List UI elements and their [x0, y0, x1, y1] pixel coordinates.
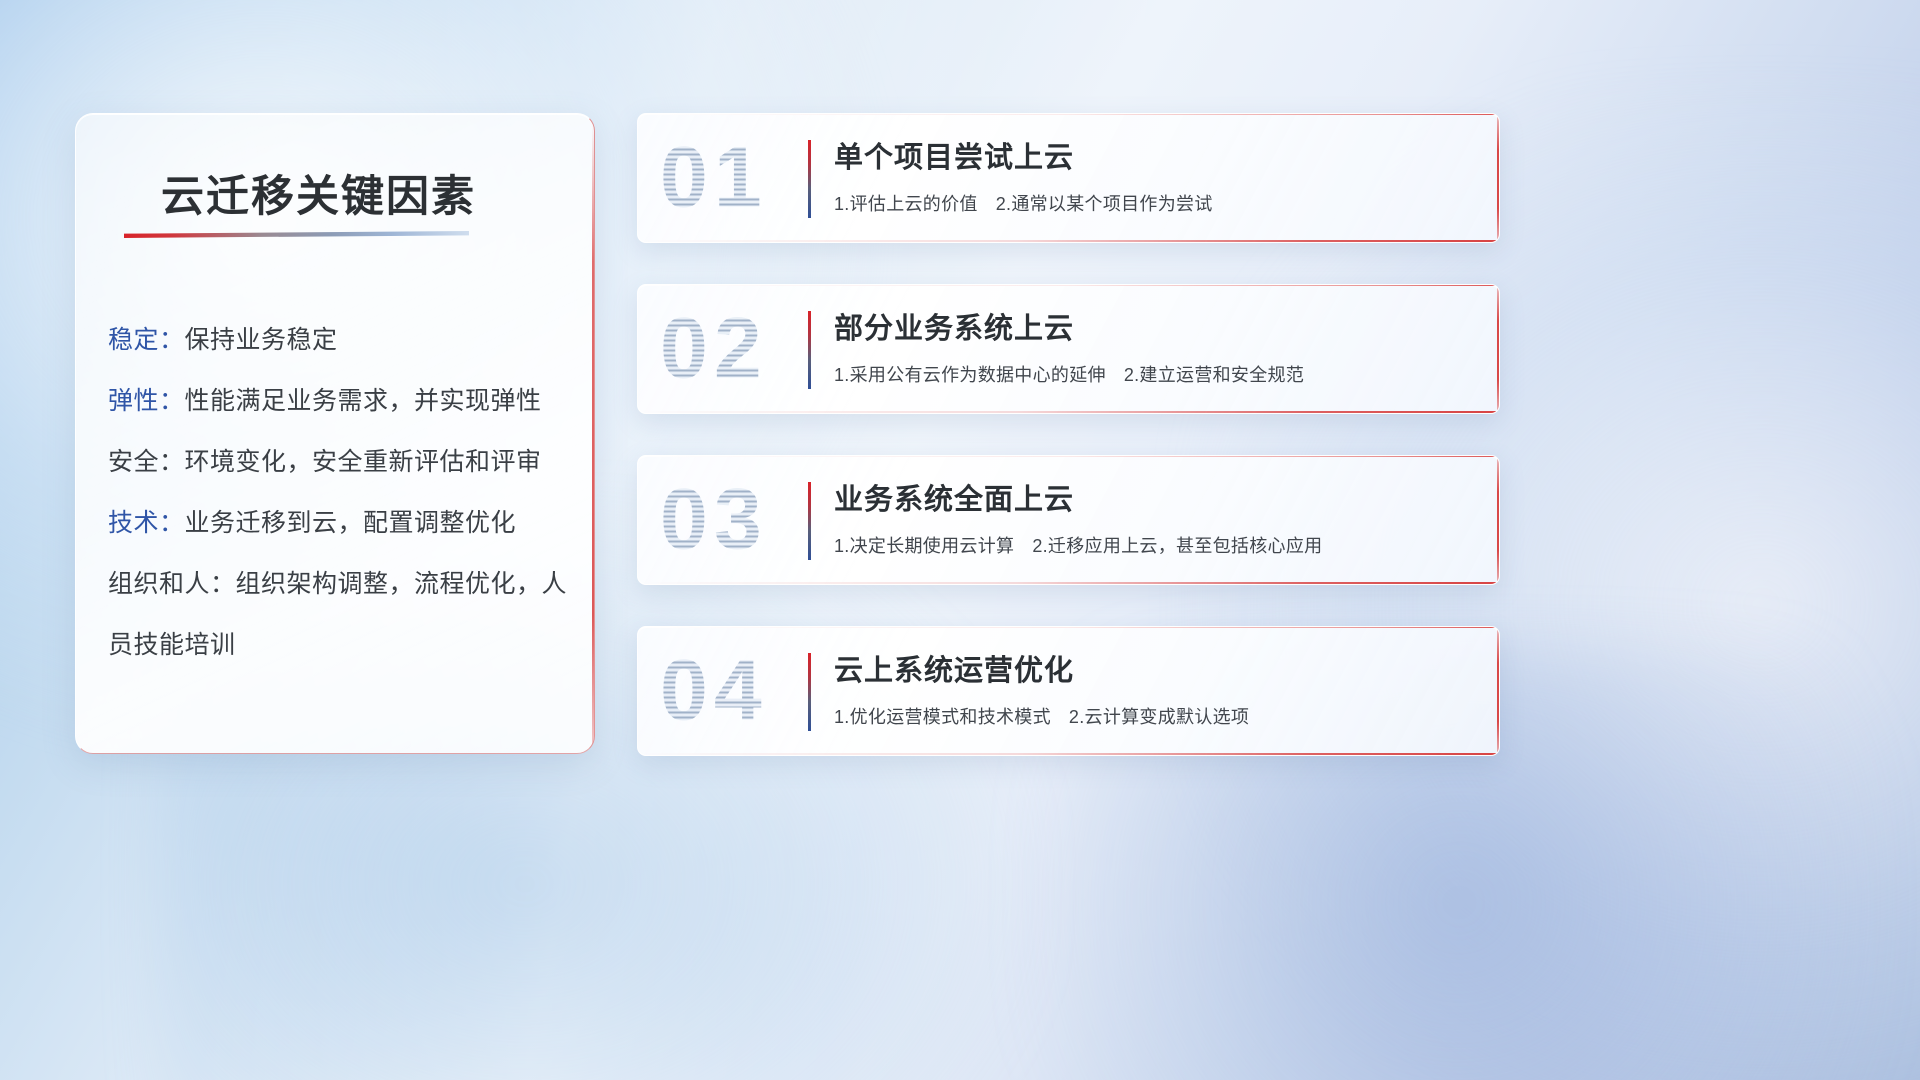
- stage-number: 04: [660, 642, 768, 741]
- card-description-part-2: 2.迁移应用上云，甚至包括核心应用: [1032, 536, 1322, 556]
- card-description-part-2: 2.建立运营和安全规范: [1124, 365, 1304, 385]
- stage-card[interactable]: 01 01 单个项目尝试上云 1.评估上云的价值2.通常以某个项目作为尝试: [637, 113, 1500, 243]
- list-item-value: 环境变化，安全重新评估和评审: [185, 448, 542, 476]
- card-title: 业务系统全面上云: [834, 480, 1459, 520]
- card-description-part-1: 1.评估上云的价值: [834, 194, 978, 214]
- card-top-accent: [638, 627, 1499, 628]
- stage-number: 02: [660, 300, 768, 399]
- list-item-key: 弹性：: [108, 387, 185, 415]
- card-top-accent: [638, 456, 1499, 457]
- stage-number: 01: [660, 129, 768, 228]
- card-top-accent: [638, 285, 1499, 286]
- stage-card[interactable]: 03 03 业务系统全面上云 1.决定长期使用云计算2.迁移应用上云，甚至包括核…: [637, 455, 1500, 585]
- card-body: 部分业务系统上云 1.采用公有云作为数据中心的延伸2.建立运营和安全规范: [834, 309, 1459, 387]
- card-top-accent: [638, 114, 1499, 115]
- card-title: 部分业务系统上云: [834, 309, 1459, 349]
- stage-card[interactable]: 02 02 部分业务系统上云 1.采用公有云作为数据中心的延伸2.建立运营和安全…: [637, 284, 1500, 414]
- card-accent-divider: [808, 653, 811, 731]
- list-item-key: 稳定：: [108, 326, 185, 354]
- card-title: 云上系统运营优化: [834, 651, 1459, 691]
- key-factors-list: 稳定：保持业务稳定 弹性：性能满足业务需求，并实现弹性 安全：环境变化，安全重新…: [108, 310, 570, 676]
- card-accent-divider: [808, 140, 811, 218]
- card-description: 1.决定长期使用云计算2.迁移应用上云，甚至包括核心应用: [834, 532, 1459, 558]
- card-description: 1.采用公有云作为数据中心的延伸2.建立运营和安全规范: [834, 361, 1459, 387]
- card-description-part-1: 1.决定长期使用云计算: [834, 536, 1014, 556]
- card-body: 单个项目尝试上云 1.评估上云的价值2.通常以某个项目作为尝试: [834, 138, 1459, 216]
- stage-card[interactable]: 04 04 云上系统运营优化 1.优化运营模式和技术模式2.云计算变成默认选项: [637, 626, 1500, 756]
- card-description: 1.优化运营模式和技术模式2.云计算变成默认选项: [834, 703, 1459, 729]
- stage-cards-list: 01 01 单个项目尝试上云 1.评估上云的价值2.通常以某个项目作为尝试 02…: [637, 113, 1500, 797]
- list-item: 弹性：性能满足业务需求，并实现弹性: [108, 371, 570, 432]
- list-item-value: 保持业务稳定: [185, 326, 338, 354]
- stage-number: 03: [660, 471, 768, 570]
- card-description-part-1: 1.优化运营模式和技术模式: [834, 707, 1051, 727]
- page-title: 云迁移关键因素: [161, 162, 476, 224]
- list-item-value: 业务迁移到云，配置调整优化: [185, 509, 517, 537]
- key-factors-panel: 云迁移关键因素 稳定：保持业务稳定 弹性：性能满足业务需求，并实现弹性 安全：环…: [75, 113, 595, 754]
- card-description-part-1: 1.采用公有云作为数据中心的延伸: [834, 365, 1106, 385]
- list-item: 组织和人：组织架构调整，流程优化，人员技能培训: [108, 554, 570, 676]
- list-item-key: 安全：: [108, 448, 185, 476]
- card-accent-divider: [808, 311, 811, 389]
- card-title: 单个项目尝试上云: [834, 138, 1459, 178]
- title-underline-rule: [124, 231, 469, 238]
- list-item-key: 技术：: [108, 509, 185, 537]
- list-item: 技术：业务迁移到云，配置调整优化: [108, 493, 570, 554]
- list-item-key: 组织和人：: [108, 570, 236, 598]
- card-accent-divider: [808, 482, 811, 560]
- card-description-part-2: 2.通常以某个项目作为尝试: [996, 194, 1213, 214]
- card-description-part-2: 2.云计算变成默认选项: [1069, 707, 1249, 727]
- list-item-value: 性能满足业务需求，并实现弹性: [185, 387, 542, 415]
- card-description: 1.评估上云的价值2.通常以某个项目作为尝试: [834, 190, 1459, 216]
- card-body: 业务系统全面上云 1.决定长期使用云计算2.迁移应用上云，甚至包括核心应用: [834, 480, 1459, 558]
- slide-stage: 云迁移关键因素 稳定：保持业务稳定 弹性：性能满足业务需求，并实现弹性 安全：环…: [0, 0, 1920, 1080]
- list-item: 稳定：保持业务稳定: [108, 310, 570, 371]
- card-body: 云上系统运营优化 1.优化运营模式和技术模式2.云计算变成默认选项: [834, 651, 1459, 729]
- list-item: 安全：环境变化，安全重新评估和评审: [108, 432, 570, 493]
